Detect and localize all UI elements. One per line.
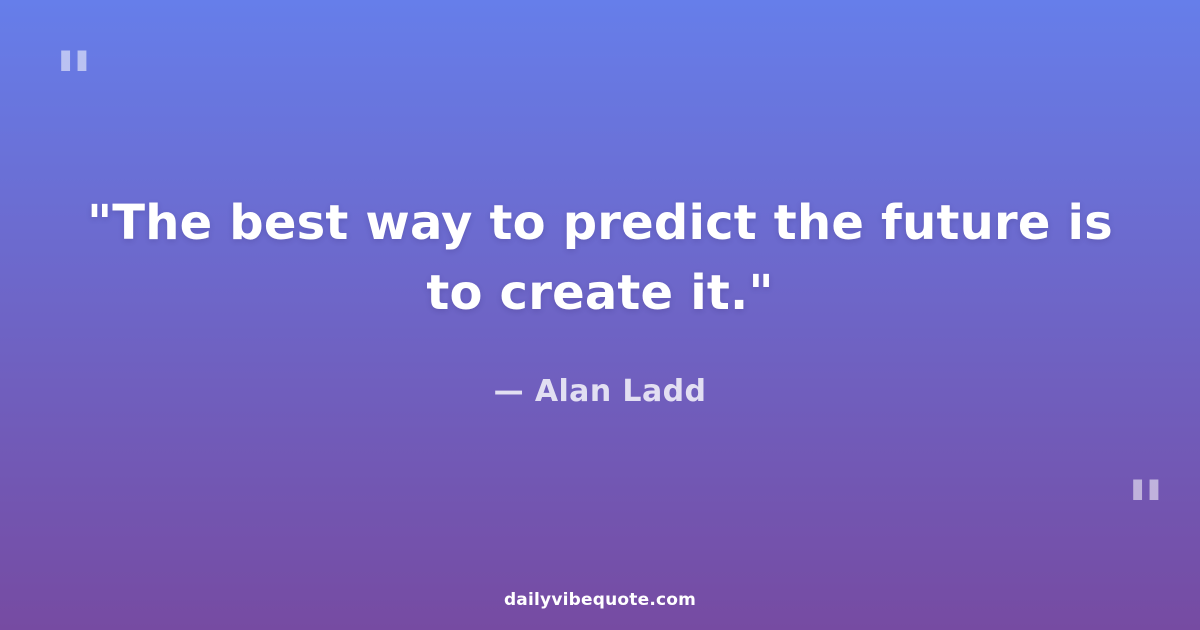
footer: dailyvibequote.com xyxy=(0,590,1200,610)
quote-card: " "The best way to predict the future is… xyxy=(0,0,1200,630)
quote-content: "The best way to predict the future is t… xyxy=(0,0,1200,630)
site-url-watermark: dailyvibequote.com xyxy=(504,590,696,610)
quote-text: "The best way to predict the future is t… xyxy=(70,188,1130,328)
quotation-mark-icon: " xyxy=(1126,471,1167,547)
quote-attribution: — Alan Ladd xyxy=(494,374,707,409)
